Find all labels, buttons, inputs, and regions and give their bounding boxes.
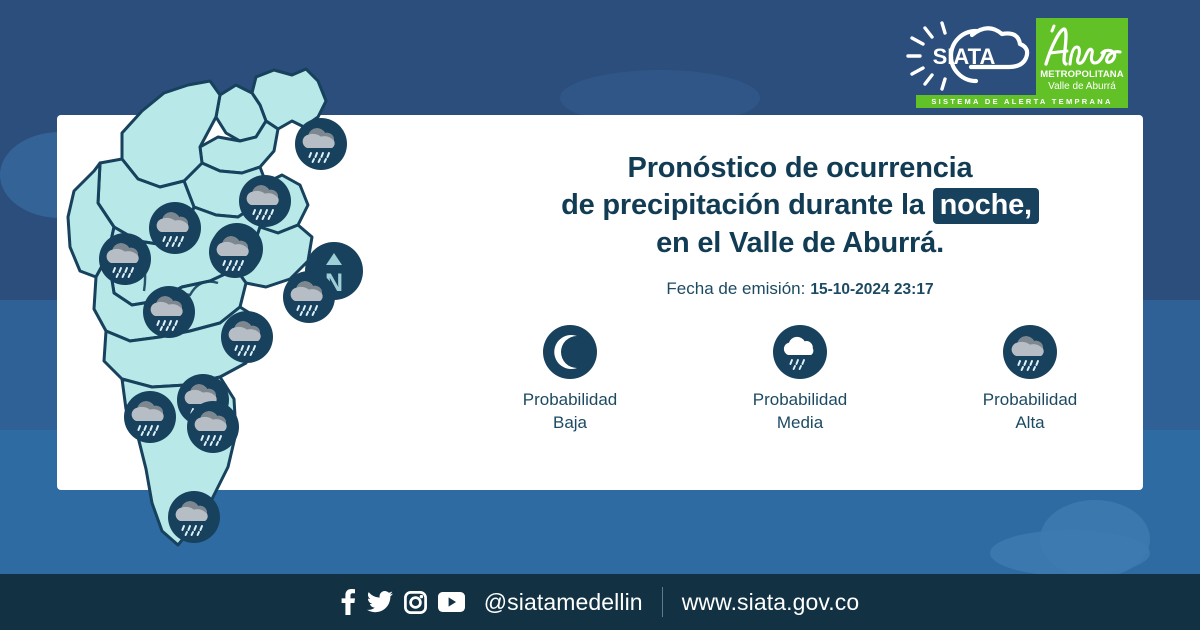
valle-de-aburra-map: N — [60, 55, 390, 575]
cloud-rain-icon — [945, 324, 1115, 380]
map-marker-sabaneta — [124, 391, 176, 443]
siata-logo: SIATA — [902, 18, 1030, 96]
issue-date-value: 15-10-2024 23:17 — [810, 281, 933, 298]
map-marker-girardota — [239, 175, 291, 227]
facebook-icon[interactable] — [341, 589, 356, 615]
issue-date: Fecha de emisión:15-10-2024 23:17 — [470, 279, 1130, 299]
tagline-banner: SISTEMA DE ALERTA TEMPRANA — [916, 95, 1128, 108]
title-line-2: de precipitación durante la noche, — [470, 187, 1130, 224]
map-marker-barbosa — [295, 118, 347, 170]
footer-bar: @siatamedellin www.siata.gov.co — [0, 574, 1200, 630]
website-url[interactable]: www.siata.gov.co — [682, 589, 860, 616]
area-script-icon — [1040, 20, 1124, 70]
area-logo-subtitle2: Valle de Aburrá — [1048, 81, 1116, 93]
legend-label-alta: Probabilidad Alta — [945, 389, 1115, 435]
social-handle[interactable]: @siatamedellin — [484, 589, 643, 616]
title-line-2-text: de precipitación durante la — [561, 189, 925, 221]
legend-item-media: Probabilidad Media — [715, 324, 885, 435]
instagram-icon[interactable] — [404, 591, 427, 614]
page-title: Pronóstico de ocurrencia de precipitació… — [470, 150, 1130, 262]
map-marker-caldas — [168, 491, 220, 543]
moon-icon — [485, 324, 655, 380]
social-links — [341, 589, 465, 615]
probability-legend: Probabilidad Baja Probabil — [470, 324, 1130, 435]
logo-group: SIATA METROPOLITANA Valle de Aburrá — [902, 18, 1128, 96]
area-logo-subtitle: METROPOLITANA — [1040, 70, 1123, 80]
footer-divider — [662, 587, 663, 617]
siata-logo-text: SIATA — [933, 44, 996, 69]
decorative-cloud-4 — [990, 530, 1150, 576]
cloud-moon-rain-icon — [715, 324, 885, 380]
map-marker-bello — [149, 202, 201, 254]
forecast-content: Pronóstico de ocurrencia de precipitació… — [470, 150, 1130, 435]
youtube-icon[interactable] — [438, 592, 465, 612]
area-metropolitana-logo: METROPOLITANA Valle de Aburrá — [1036, 18, 1128, 96]
title-line-3: en el Valle de Aburrá. — [470, 225, 1130, 262]
legend-item-alta: Probabilidad Alta — [945, 324, 1115, 435]
map-marker-la-estrella — [187, 401, 239, 453]
map-marker-medellin-c — [221, 311, 273, 363]
map-svg: N — [60, 55, 390, 575]
twitter-icon[interactable] — [367, 591, 393, 613]
map-marker-itagui — [283, 271, 335, 323]
issue-date-label: Fecha de emisión: — [666, 279, 805, 298]
tagline-text: SISTEMA DE ALERTA TEMPRANA — [931, 97, 1112, 106]
legend-label-media: Probabilidad Media — [715, 389, 885, 435]
map-marker-medellin-n — [143, 286, 195, 338]
map-marker-medellin-nw — [99, 233, 151, 285]
legend-label-baja: Probabilidad Baja — [485, 389, 655, 435]
title-highlight-noche: noche, — [933, 188, 1039, 224]
title-line-1: Pronóstico de ocurrencia — [470, 150, 1130, 187]
legend-item-baja: Probabilidad Baja — [485, 324, 655, 435]
map-marker-san-pedro — [209, 226, 261, 278]
